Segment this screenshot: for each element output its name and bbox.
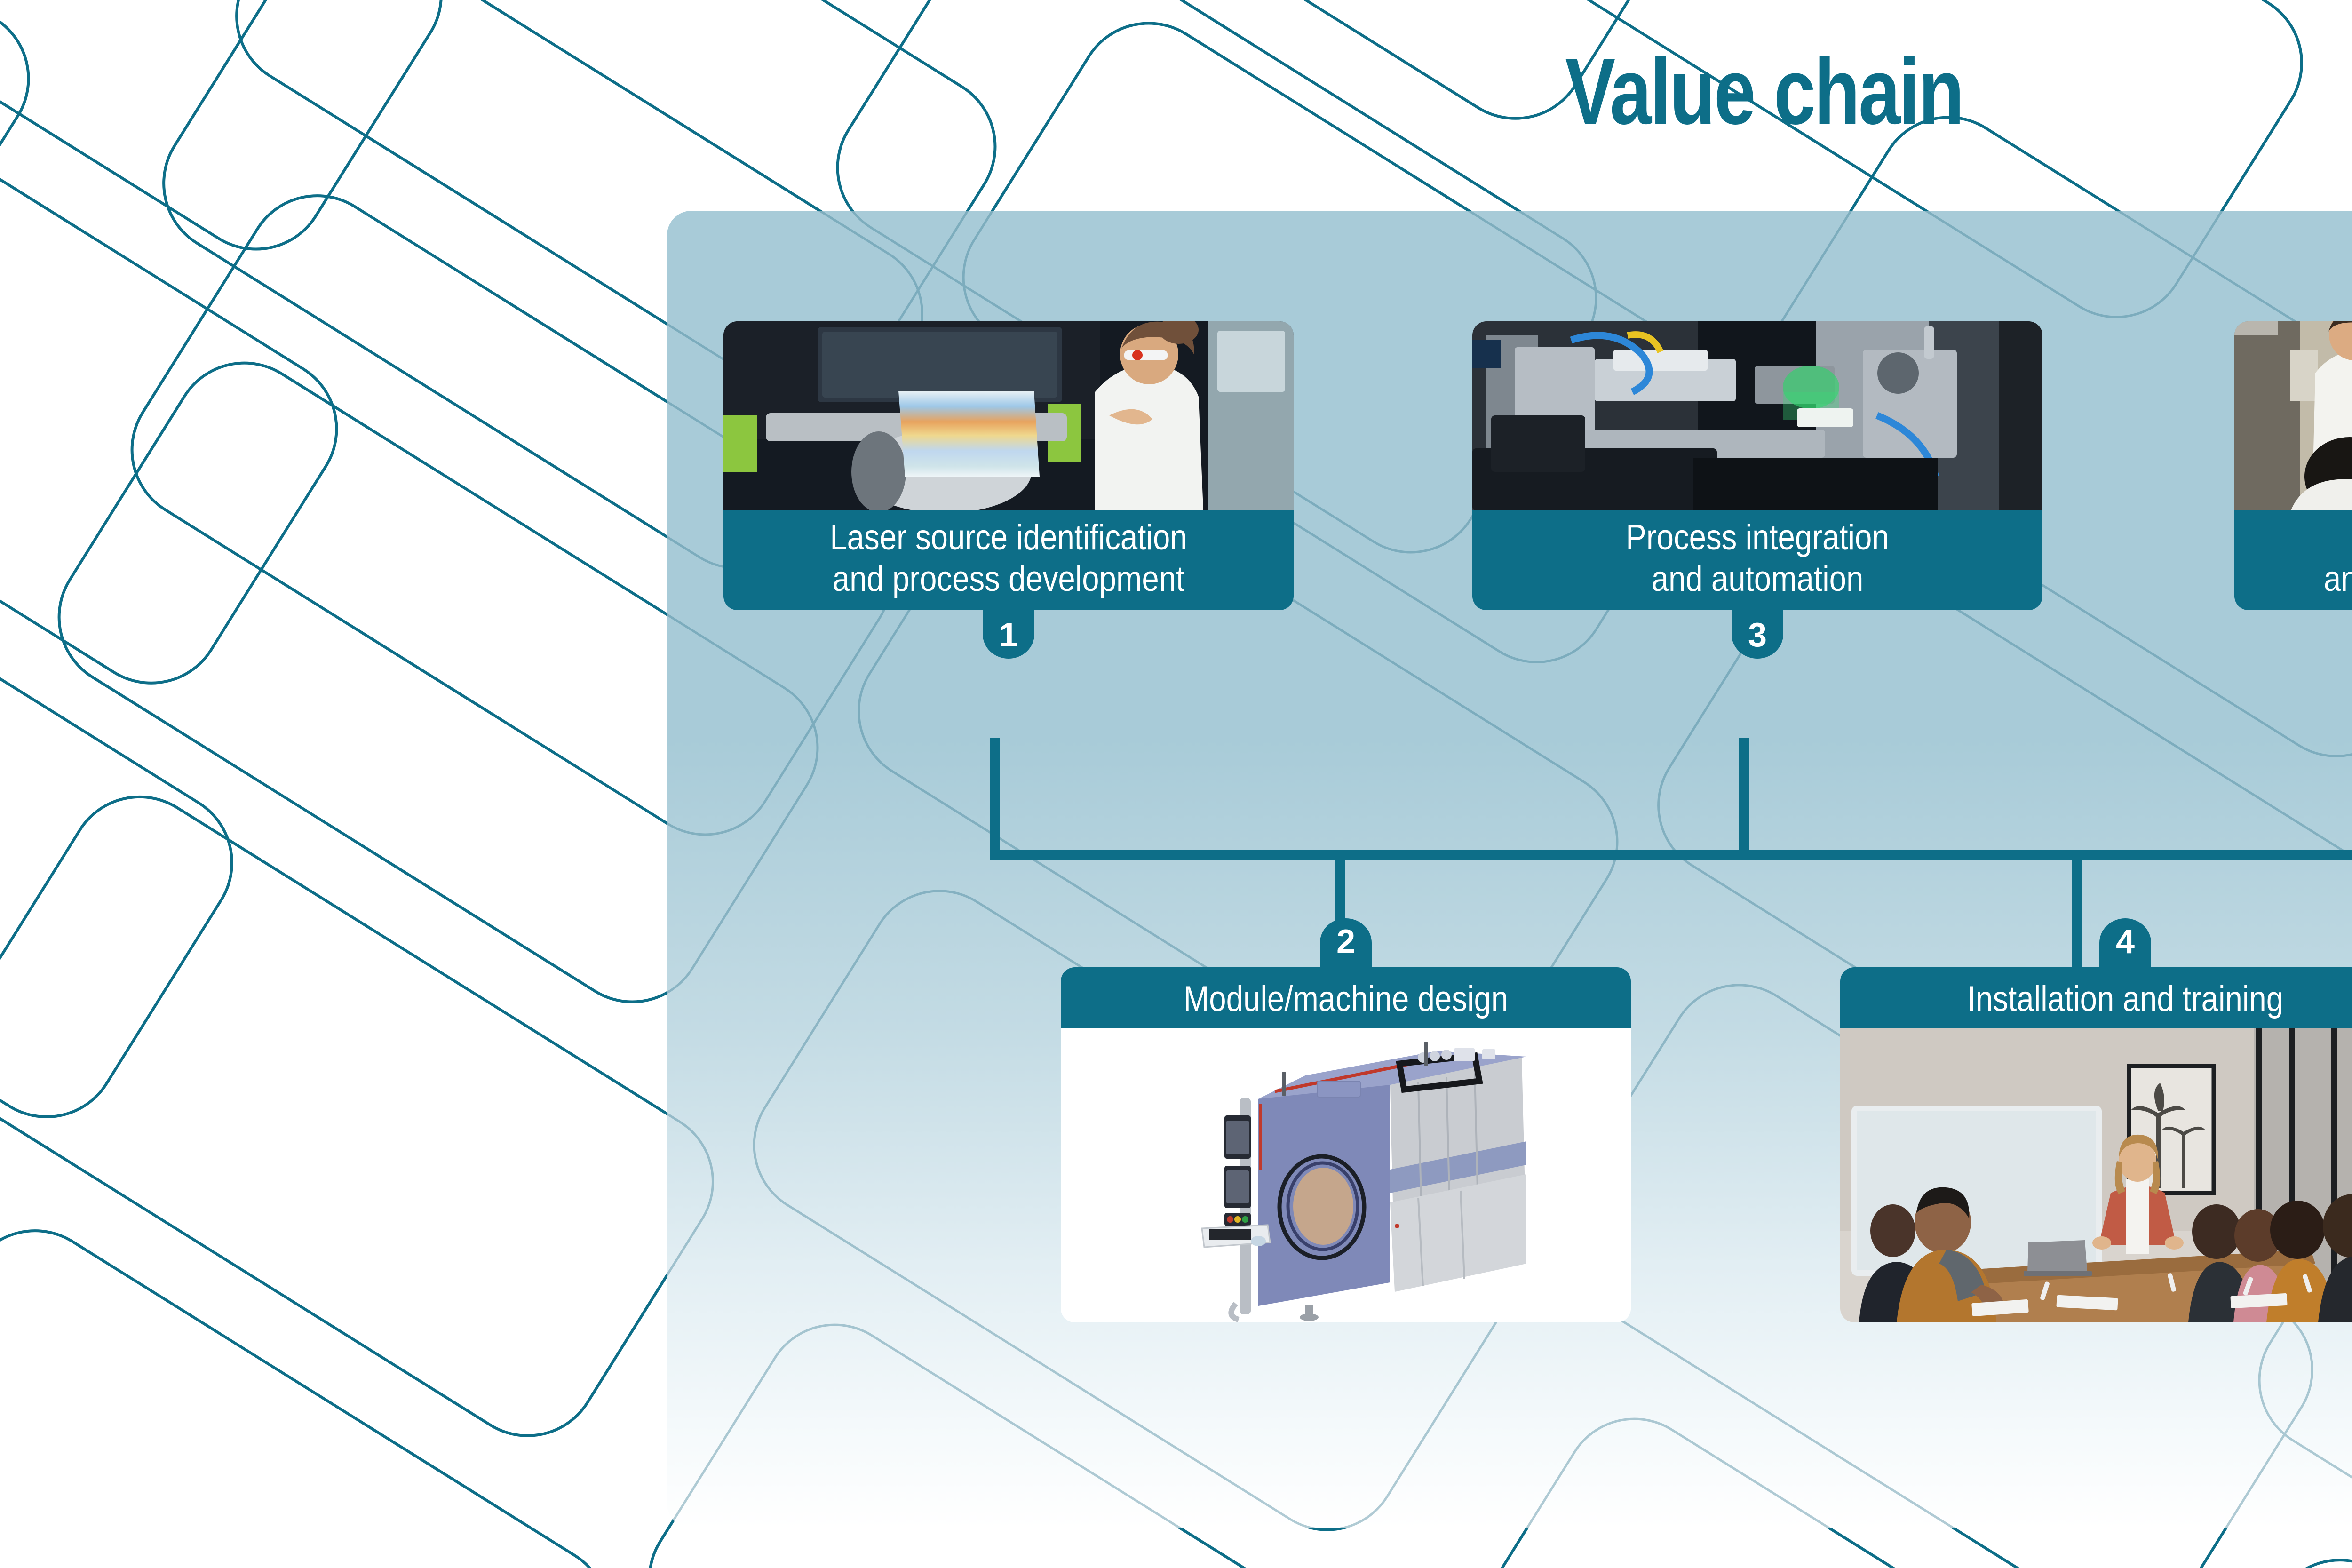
step-3-label: Process integration and automation bbox=[1523, 517, 1992, 600]
step-3-badge: 3 bbox=[1732, 610, 1783, 659]
step-card-4[interactable]: Installation and training bbox=[1840, 967, 2352, 1322]
step-5-label-bar: After-sale service and maintenance agree… bbox=[2234, 510, 2352, 610]
step-1-image bbox=[723, 321, 1294, 510]
step-4-image bbox=[1840, 1028, 2352, 1322]
step-2-number: 2 bbox=[1336, 923, 1355, 961]
step-2-image bbox=[1061, 1028, 1631, 1322]
page-title: Value chain bbox=[353, 45, 2352, 139]
step-4-label: Installation and training bbox=[1891, 979, 2352, 1020]
step-1-badge: 1 bbox=[983, 610, 1034, 659]
step-3-number: 3 bbox=[1748, 616, 1767, 654]
step-2-label: Module/machine design bbox=[1111, 979, 1581, 1020]
step-card-2[interactable]: Module/machine design bbox=[1061, 967, 1631, 1322]
step-1-number: 1 bbox=[999, 616, 1018, 654]
step-card-1[interactable]: Laser source identification and process … bbox=[723, 321, 1294, 610]
step-2-label-bar: Module/machine design bbox=[1061, 967, 1631, 1028]
step-4-badge: 4 bbox=[2099, 918, 2151, 967]
step-card-3[interactable]: Process integration and automation 3 bbox=[1472, 321, 2042, 610]
step-4-number: 4 bbox=[2116, 923, 2135, 961]
step-card-5[interactable]: After-sale service and maintenance agree… bbox=[2234, 321, 2352, 610]
step-5-image bbox=[2234, 321, 2352, 510]
step-4-label-bar: Installation and training bbox=[1840, 967, 2352, 1028]
step-5-label: After-sale service and maintenance agree… bbox=[2285, 517, 2352, 600]
step-1-label: Laser source identification and process … bbox=[774, 517, 1243, 600]
step-3-label-bar: Process integration and automation bbox=[1472, 510, 2042, 610]
step-2-badge: 2 bbox=[1320, 918, 1372, 967]
step-3-image bbox=[1472, 321, 2042, 510]
step-1-label-bar: Laser source identification and process … bbox=[723, 510, 1294, 610]
